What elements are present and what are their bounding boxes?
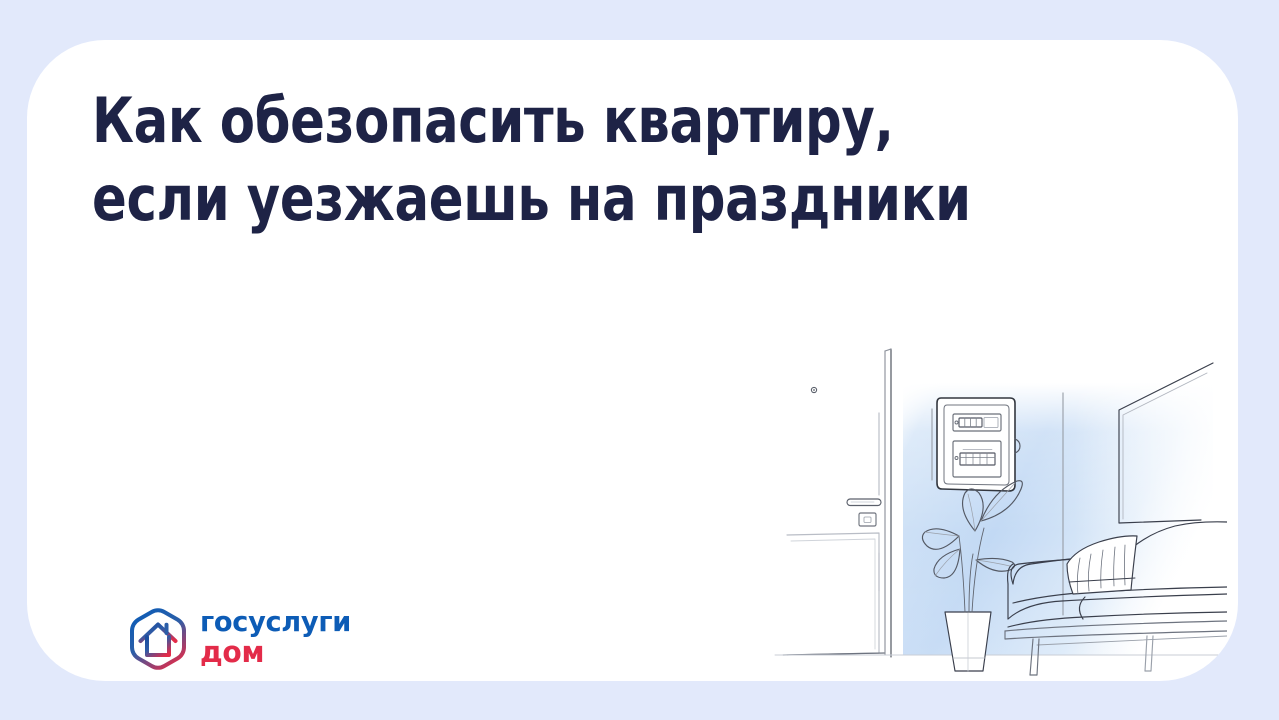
brand-logo[interactable]: госуслуги дом	[102, 568, 372, 646]
brand-name-secondary: дом	[200, 637, 375, 668]
door-handle-icon	[847, 499, 881, 506]
apartment-hallway-illustration	[767, 335, 1227, 681]
content-card: Как обезопасить квартиру, если уезжаешь …	[27, 40, 1238, 681]
door-lock-icon	[859, 513, 876, 526]
electrical-panel	[932, 398, 1020, 491]
brand-logo-text: госуслуги дом	[200, 606, 380, 668]
page-title: Как обезопасить квартиру, если уезжаешь …	[92, 82, 1012, 238]
house-in-hexagon-icon	[126, 606, 190, 672]
slide-canvas: Как обезопасить квартиру, если уезжаешь …	[0, 0, 1279, 720]
entrance-door	[783, 349, 891, 657]
brand-name-primary: госуслуги	[200, 606, 375, 637]
